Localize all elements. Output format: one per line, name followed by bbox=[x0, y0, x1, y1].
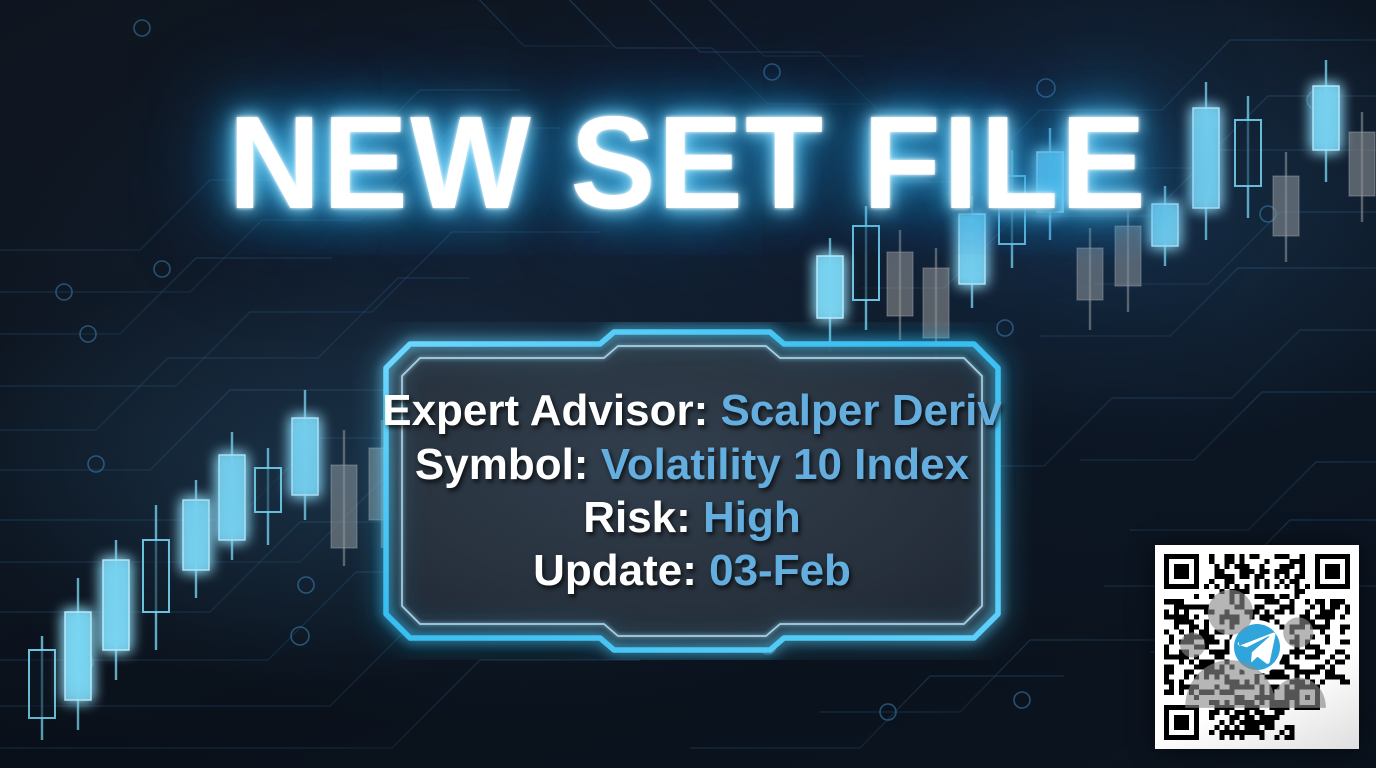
page-title: NEW SET FILE bbox=[228, 96, 1148, 231]
row-value: High bbox=[703, 493, 801, 542]
info-rows: Expert Advisor: Scalper Deriv Symbol: Vo… bbox=[386, 366, 998, 616]
row-update: Update: 03-Feb bbox=[533, 544, 851, 597]
row-label: Symbol: bbox=[415, 440, 589, 489]
info-panel: Expert Advisor: Scalper Deriv Symbol: Vo… bbox=[352, 322, 1032, 660]
row-label: Expert Advisor: bbox=[382, 386, 708, 435]
row-value: Volatility 10 Index bbox=[601, 440, 969, 489]
row-expert-advisor: Expert Advisor: Scalper Deriv bbox=[382, 384, 1002, 437]
watermark-icon bbox=[1160, 552, 1346, 738]
row-value: Scalper Deriv bbox=[720, 386, 1001, 435]
row-label: Update: bbox=[533, 546, 697, 595]
qr-code-inner bbox=[1164, 554, 1350, 740]
poster-canvas: NEW SET FILE Expert Advisor: Scalper Der… bbox=[0, 0, 1376, 768]
row-label: Risk: bbox=[583, 493, 691, 542]
row-risk: Risk: High bbox=[583, 491, 801, 544]
qr-code[interactable] bbox=[1155, 545, 1359, 749]
row-value: 03-Feb bbox=[709, 546, 851, 595]
poster-title-container: NEW SET FILE bbox=[0, 96, 1376, 231]
row-symbol: Symbol: Volatility 10 Index bbox=[415, 438, 969, 491]
